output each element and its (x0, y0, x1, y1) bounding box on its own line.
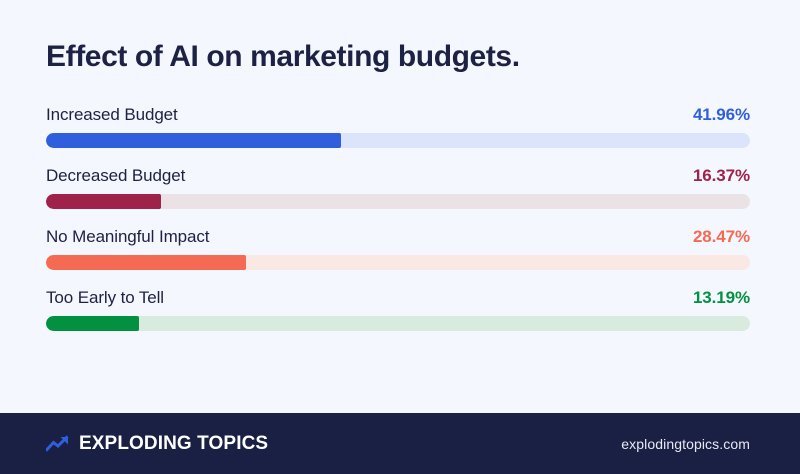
bar-label: Increased Budget (46, 105, 178, 125)
bar-track (46, 316, 750, 331)
bar-track (46, 133, 750, 148)
footer-bar: EXPLODING TOPICS explodingtopics.com (0, 413, 800, 474)
bar-row-no-meaningful-impact: No Meaningful Impact 28.47% (46, 227, 750, 270)
bar-row-decreased-budget: Decreased Budget 16.37% (46, 166, 750, 209)
bar-value: 16.37% (693, 166, 750, 186)
infographic-card: Effect of AI on marketing budgets. Incre… (0, 0, 800, 474)
trending-up-icon (46, 434, 72, 454)
brand-name: EXPLODING TOPICS (79, 433, 268, 455)
bar-fill (46, 194, 161, 209)
site-url: explodingtopics.com (621, 436, 750, 452)
bar-label: Decreased Budget (46, 166, 185, 186)
bar-header: No Meaningful Impact 28.47% (46, 227, 750, 247)
page-title: Effect of AI on marketing budgets. (46, 40, 750, 75)
bar-label: Too Early to Tell (46, 288, 164, 308)
bar-row-too-early-to-tell: Too Early to Tell 13.19% (46, 288, 750, 331)
bar-header: Too Early to Tell 13.19% (46, 288, 750, 308)
bar-chart: Increased Budget 41.96% Decreased Budget… (46, 105, 750, 331)
bar-header: Increased Budget 41.96% (46, 105, 750, 125)
bar-track (46, 255, 750, 270)
bar-fill (46, 316, 139, 331)
bar-label: No Meaningful Impact (46, 227, 209, 247)
bar-header: Decreased Budget 16.37% (46, 166, 750, 186)
chart-content: Effect of AI on marketing budgets. Incre… (0, 0, 800, 413)
bar-row-increased-budget: Increased Budget 41.96% (46, 105, 750, 148)
brand-logo: EXPLODING TOPICS (46, 433, 268, 455)
bar-value: 13.19% (693, 288, 750, 308)
bar-fill (46, 133, 341, 148)
bar-track (46, 194, 750, 209)
bar-value: 28.47% (693, 227, 750, 247)
bar-value: 41.96% (693, 105, 750, 125)
bar-fill (46, 255, 246, 270)
